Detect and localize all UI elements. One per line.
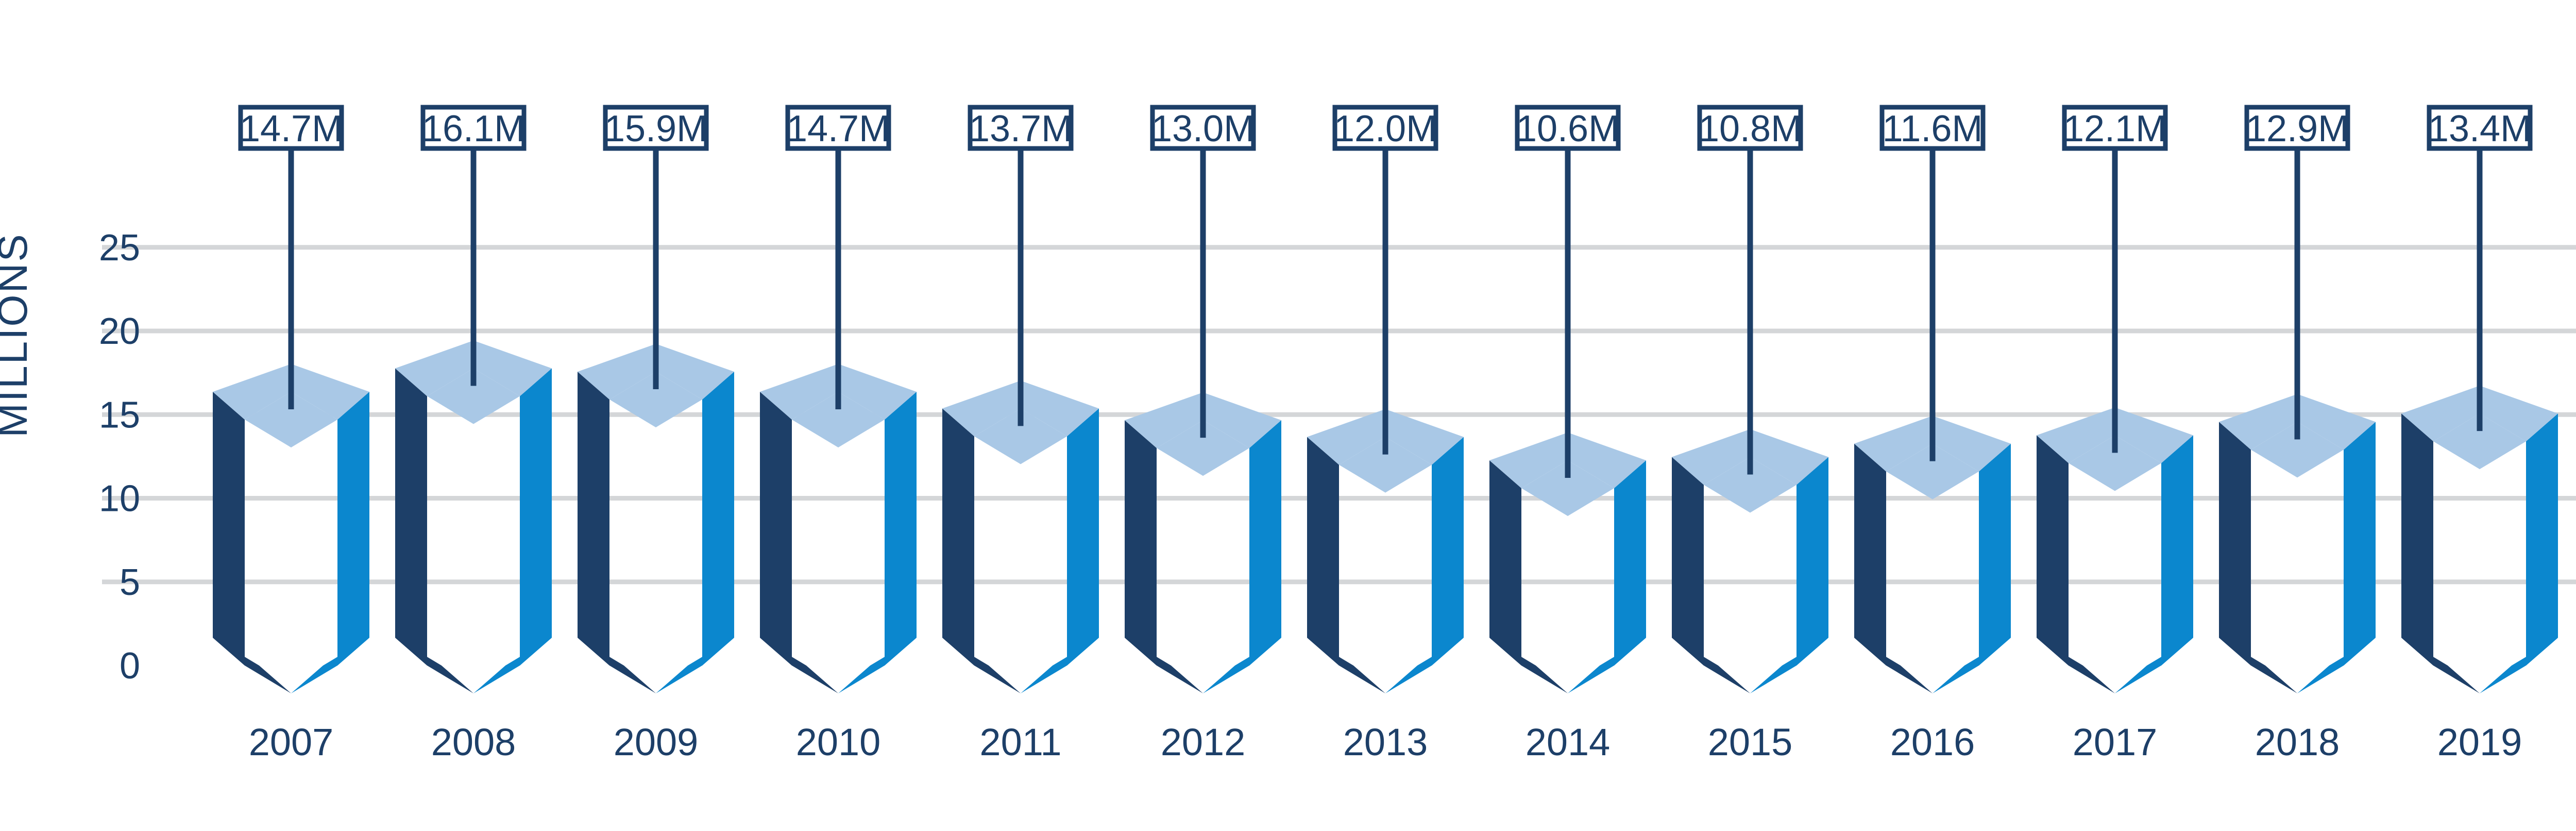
callout-value-text: 16.1M bbox=[422, 108, 525, 149]
bar-bottom-right-face bbox=[1750, 638, 1828, 693]
bar-right-face bbox=[2526, 413, 2558, 666]
data-label-callout[interactable]: 12.0M bbox=[1334, 107, 1437, 455]
bar-bottom-right-face bbox=[1933, 638, 2011, 693]
x-axis-category-label: 2016 bbox=[1890, 721, 1975, 763]
bar-bottom-right-face bbox=[2480, 638, 2558, 693]
bar-bottom-left-face bbox=[1672, 638, 1750, 693]
data-label-callout[interactable]: 12.9M bbox=[2246, 107, 2349, 439]
data-label-callout[interactable]: 13.4M bbox=[2428, 107, 2531, 431]
bar-column[interactable] bbox=[578, 344, 734, 693]
bar-left-face bbox=[213, 392, 245, 666]
y-axis-tick-label: 10 bbox=[99, 478, 140, 520]
callout-value-text: 15.9M bbox=[604, 108, 707, 149]
bar-bottom-right-face bbox=[1021, 638, 1099, 693]
bar-bottom-left-face bbox=[1489, 638, 1568, 693]
y-axis-title-text: MILLIONS bbox=[0, 232, 36, 437]
bar-column[interactable] bbox=[2401, 386, 2558, 693]
x-axis-category-label: 2011 bbox=[979, 721, 1061, 763]
data-label-callout[interactable]: 13.7M bbox=[969, 107, 1072, 426]
bar-right-face bbox=[1432, 437, 1464, 666]
y-axis-tick-label: 25 bbox=[99, 227, 140, 269]
callout-value-text: 14.7M bbox=[240, 108, 343, 149]
callout-value-text: 12.0M bbox=[1334, 108, 1437, 149]
bar-right-face bbox=[2344, 422, 2376, 666]
bar-left-face bbox=[395, 369, 427, 666]
bar-right-face bbox=[1249, 420, 1281, 666]
callout-value-text: 13.0M bbox=[1151, 108, 1255, 149]
x-axis-category-label: 2013 bbox=[1343, 721, 1428, 763]
bar-bottom-right-face bbox=[2115, 638, 2193, 693]
bar-column[interactable] bbox=[213, 364, 369, 693]
bar-right-face bbox=[702, 372, 734, 666]
data-label-callout[interactable]: 14.7M bbox=[240, 107, 343, 409]
callout-value-text: 13.7M bbox=[969, 108, 1072, 149]
data-label-callout[interactable]: 12.1M bbox=[2063, 107, 2166, 453]
bar-bottom-left-face bbox=[578, 638, 656, 693]
callout-value-text: 10.6M bbox=[1516, 108, 1619, 149]
x-axis-category-label: 2019 bbox=[2437, 721, 2522, 763]
x-axis-category-label: 2007 bbox=[249, 721, 334, 763]
y-axis-tick-labels: 0510152025 bbox=[99, 227, 140, 687]
bar-right-face bbox=[1067, 408, 1099, 666]
bar-bottom-right-face bbox=[473, 638, 552, 693]
bar-bottom-right-face bbox=[1385, 638, 1464, 693]
bar-left-face bbox=[1489, 460, 1521, 666]
data-label-callout[interactable]: 14.7M bbox=[787, 107, 890, 409]
x-axis-category-label: 2008 bbox=[431, 721, 516, 763]
bar-bottom-right-face bbox=[2297, 638, 2376, 693]
bar-left-face bbox=[760, 392, 792, 666]
bar-bottom-right-face bbox=[1568, 638, 1646, 693]
bar-chart: 0510152025 MILLIONS 20072008200920102011… bbox=[0, 0, 2576, 831]
callout-value-text: 10.8M bbox=[1699, 108, 1802, 149]
bar-right-face bbox=[337, 392, 369, 666]
bars-group bbox=[213, 341, 2576, 693]
bar-right-face bbox=[1979, 444, 2011, 666]
bar-left-face bbox=[1672, 457, 1704, 666]
bar-left-face bbox=[2401, 413, 2433, 666]
x-axis-category-label: 2017 bbox=[2073, 721, 2158, 763]
bar-left-face bbox=[1307, 437, 1339, 666]
bar-left-face bbox=[2219, 422, 2251, 666]
bar-bottom-left-face bbox=[213, 638, 291, 693]
bar-bottom-right-face bbox=[838, 638, 917, 693]
data-label-callout[interactable]: 13.0M bbox=[1151, 107, 1255, 438]
y-axis-title: MILLIONS bbox=[0, 232, 36, 437]
bar-bottom-left-face bbox=[1307, 638, 1385, 693]
bar-bottom-left-face bbox=[1125, 638, 1203, 693]
y-axis-tick-label: 15 bbox=[99, 394, 140, 436]
bar-right-face bbox=[1614, 460, 1646, 666]
bar-bottom-left-face bbox=[942, 638, 1021, 693]
bar-bottom-right-face bbox=[1203, 638, 1281, 693]
bar-right-face bbox=[2161, 435, 2193, 666]
data-label-callout[interactable]: 10.8M bbox=[1699, 107, 1802, 475]
x-axis-category-label: 2018 bbox=[2255, 721, 2340, 763]
bar-bottom-left-face bbox=[2401, 638, 2480, 693]
bar-right-face bbox=[885, 392, 917, 666]
bar-column[interactable] bbox=[942, 380, 1099, 693]
callout-value-text: 13.4M bbox=[2428, 108, 2531, 149]
callout-value-text: 11.6M bbox=[1883, 108, 1983, 149]
bar-bottom-left-face bbox=[2219, 638, 2297, 693]
bar-left-face bbox=[1125, 420, 1157, 666]
bar-left-face bbox=[578, 372, 609, 666]
bar-right-face bbox=[1797, 457, 1828, 666]
bar-bottom-left-face bbox=[395, 638, 473, 693]
data-label-callout[interactable]: 10.6M bbox=[1516, 107, 1619, 478]
x-axis-category-label: 2012 bbox=[1161, 721, 1246, 763]
bar-bottom-left-face bbox=[760, 638, 838, 693]
bar-left-face bbox=[2037, 435, 2069, 666]
bar-bottom-left-face bbox=[2037, 638, 2115, 693]
bar-left-face bbox=[1854, 444, 1886, 666]
x-axis-category-label: 2009 bbox=[614, 721, 699, 763]
bar-bottom-left-face bbox=[1854, 638, 1933, 693]
x-axis-category-label: 2015 bbox=[1708, 721, 1793, 763]
bar-column[interactable] bbox=[760, 364, 917, 693]
bar-bottom-right-face bbox=[291, 638, 369, 693]
callout-value-text: 14.7M bbox=[787, 108, 890, 149]
y-axis-tick-label: 20 bbox=[99, 311, 140, 352]
x-axis-category-label: 2014 bbox=[1526, 721, 1611, 763]
x-axis-category-label: 2010 bbox=[796, 721, 881, 763]
callout-value-text: 12.1M bbox=[2063, 108, 2166, 149]
y-axis-tick-label: 0 bbox=[120, 645, 140, 687]
callout-value-text: 12.9M bbox=[2246, 108, 2349, 149]
bar-right-face bbox=[520, 369, 552, 666]
y-axis-tick-label: 5 bbox=[120, 562, 140, 603]
data-label-callout[interactable]: 11.6M bbox=[1882, 107, 1983, 461]
bar-left-face bbox=[942, 408, 974, 666]
bar-bottom-right-face bbox=[656, 638, 734, 693]
x-axis-category-labels: 2007200820092010201120122013201420152016… bbox=[249, 721, 2576, 763]
chart-container: 0510152025 MILLIONS 20072008200920102011… bbox=[0, 0, 2576, 831]
bar-column[interactable] bbox=[395, 341, 552, 693]
